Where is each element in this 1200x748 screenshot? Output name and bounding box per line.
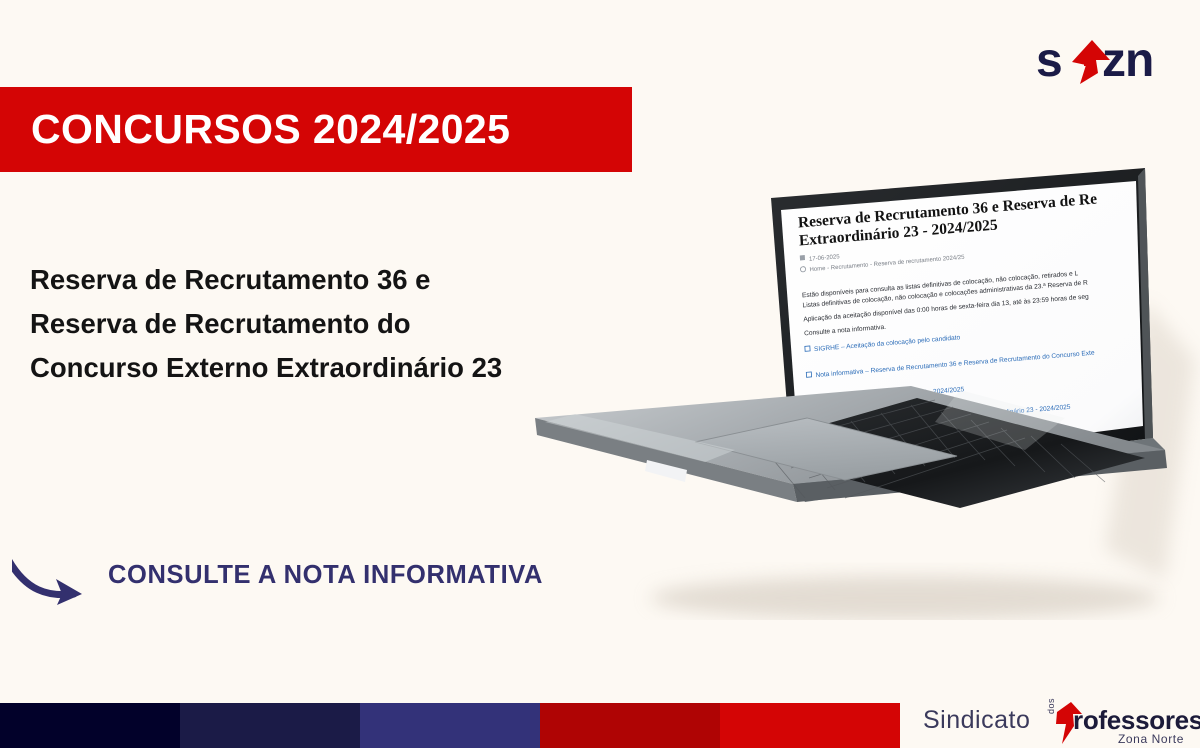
footer-segment-2 (180, 703, 360, 748)
union-logo: Sindicato dos rofessores Zona Norte (905, 700, 1190, 748)
footer-segment-4 (540, 703, 720, 748)
footer-segment-3 (360, 703, 540, 748)
cta-label: CONSULTE A NOTA INFORMATIVA (108, 561, 543, 590)
spzn-letters-zn: zn (1102, 34, 1153, 84)
union-logo-sindicato: Sindicato (923, 706, 1030, 735)
banner-title: CONCURSOS 2024/2025 (0, 106, 510, 153)
spzn-letter-s: s (1036, 34, 1063, 84)
footer-color-bar (0, 703, 900, 748)
laptop-shadow (650, 576, 1160, 620)
curved-arrow-right-icon (12, 545, 102, 605)
calendar-icon (800, 255, 805, 260)
spzn-logo: s zn (1036, 32, 1186, 84)
footer-segment-5 (720, 703, 900, 748)
spzn-logo-svg: s zn (1036, 32, 1186, 84)
laptop-svg: Reserva de Recrutamento 36 e Reserva de … (505, 150, 1200, 620)
laptop-mockup: Reserva de Recrutamento 36 e Reserva de … (505, 150, 1200, 620)
union-logo-zona-norte: Zona Norte (1118, 732, 1184, 746)
footer-segment-1 (0, 703, 180, 748)
